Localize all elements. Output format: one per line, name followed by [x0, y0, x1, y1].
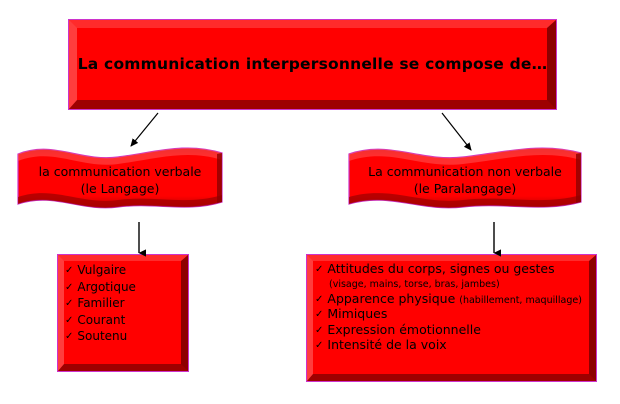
check-icon: ✓: [315, 308, 323, 320]
list-item-label: Attitudes du corps, signes ou gestes: [327, 263, 591, 276]
list-item-label: Mimiques: [327, 308, 591, 321]
banner-non-verbale-line2: (le Paralangage): [345, 181, 585, 198]
list-box-non-verbale-content: ✓ Attitudes du corps, signes ou gestes (…: [307, 255, 596, 381]
list-item-label: Vulgaire: [77, 264, 183, 276]
page-title: La communication interpersonnelle se com…: [78, 56, 548, 73]
list-item: ✓ Familier: [65, 297, 183, 309]
banner-non-verbale-text: La communication non verbale (le Paralan…: [345, 164, 585, 197]
list-item: ✓ Expression émotionnelle: [315, 324, 591, 337]
check-icon: ✓: [65, 297, 73, 309]
list-box-verbale: ✓ Vulgaire ✓ Argotique ✓ Familier ✓ Cour…: [57, 254, 189, 372]
list-item-label: Intensité de la voix: [327, 339, 591, 352]
check-icon: ✓: [315, 339, 323, 351]
check-icon: ✓: [315, 263, 323, 275]
check-icon: ✓: [65, 281, 73, 293]
check-icon: ✓: [315, 293, 323, 305]
title-box: La communication interpersonnelle se com…: [68, 19, 557, 110]
banner-verbale-line2: (le Langage): [14, 181, 226, 198]
list-item: ✓ Attitudes du corps, signes ou gestes: [315, 263, 591, 276]
list-item-note: (habillement, maquillage): [459, 295, 582, 306]
list-item: ✓ Courant: [65, 314, 183, 326]
list-item-label: Argotique: [77, 281, 183, 293]
list-item: ✓ Apparence physique (habillement, maqui…: [315, 293, 591, 306]
check-icon: ✓: [65, 330, 73, 342]
diagram-canvas: La communication interpersonnelle se com…: [0, 0, 620, 404]
check-icon: ✓: [65, 314, 73, 326]
list-item-label: Soutenu: [77, 330, 183, 342]
list-item-label: Courant: [77, 314, 183, 326]
list-item: ✓ Soutenu: [65, 330, 183, 342]
list-item-label: Apparence physique: [327, 291, 459, 306]
banner-communication-verbale: la communication verbale (le Langage): [14, 140, 226, 220]
check-icon: ✓: [315, 324, 323, 336]
list-box-verbale-content: ✓ Vulgaire ✓ Argotique ✓ Familier ✓ Cour…: [58, 255, 188, 371]
list-item: ✓ Mimiques: [315, 308, 591, 321]
list-item: ✓ Vulgaire: [65, 264, 183, 276]
list-item-label: Familier: [77, 297, 183, 309]
banner-non-verbale-line1: La communication non verbale: [345, 164, 585, 181]
banner-verbale-text: la communication verbale (le Langage): [14, 164, 226, 197]
list-item: ✓ Argotique: [65, 281, 183, 293]
list-item-subline: (visage, mains, torse, bras, jambes): [329, 280, 591, 290]
title-box-content: La communication interpersonnelle se com…: [69, 20, 556, 109]
banner-verbale-line1: la communication verbale: [14, 164, 226, 181]
list-item: ✓ Intensité de la voix: [315, 339, 591, 352]
check-icon: ✓: [65, 264, 73, 276]
list-item-label: Expression émotionnelle: [327, 324, 591, 337]
banner-communication-non-verbale: La communication non verbale (le Paralan…: [345, 140, 585, 220]
list-box-non-verbale: ✓ Attitudes du corps, signes ou gestes (…: [306, 254, 597, 382]
